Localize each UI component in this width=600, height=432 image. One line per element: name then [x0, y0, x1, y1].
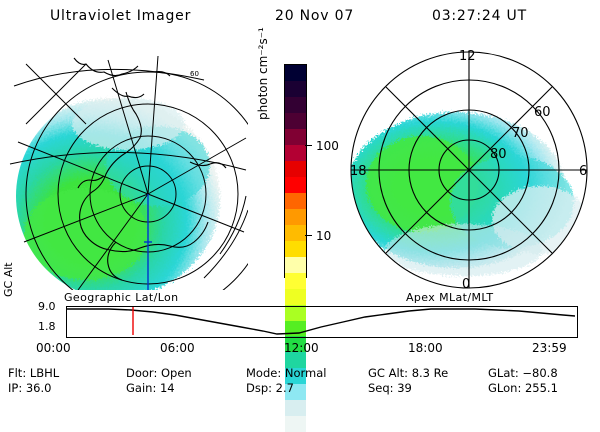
status-seq: Seq: 39: [368, 381, 412, 395]
orbit-xtick-2: 12:00: [284, 341, 319, 355]
colorbar-segment-2: [285, 97, 306, 113]
colorbar-segment-10: [285, 225, 306, 241]
auroral-emission-geographic: [8, 98, 220, 290]
orbit-ytick-low: 1.8: [38, 320, 56, 333]
mlt-label-0: 0: [462, 277, 470, 292]
orbit-trace-canvas: [67, 307, 575, 335]
colorbar-segment-13: [285, 273, 306, 289]
colorbar-segment-5: [285, 145, 306, 161]
mlt-label-12: 12: [459, 49, 476, 64]
status-gc-alt: GC Alt: 8.3 Re: [368, 366, 448, 380]
orbit-xtick-0: 00:00: [36, 341, 71, 355]
geographic-grid-label: 60: [190, 70, 199, 78]
mlat-label-70: 70: [512, 126, 529, 141]
colorbar-segment-12: [285, 257, 306, 273]
colorbar-segment-8: [285, 193, 306, 209]
orbit-altitude-plot: [66, 306, 578, 338]
geographic-plot: 60: [8, 46, 248, 290]
status-gain: Gain: 14: [126, 381, 175, 395]
mlt-spokes: [351, 52, 587, 288]
status-door: Door: Open: [126, 366, 192, 380]
status-mode: Mode: Normal: [246, 366, 326, 380]
colorbar-segment-22: [285, 416, 306, 432]
colorbar-segment-14: [285, 289, 306, 305]
colorbar: [284, 64, 307, 278]
colorbar-segment-0: [285, 65, 306, 81]
orbit-y-axis-label: GC Alt: [2, 283, 15, 297]
orbit-ytick-high: 9.0: [38, 300, 56, 313]
status-filter: Flt: LBHL: [8, 366, 59, 380]
status-ip: IP: 36.0: [8, 381, 51, 395]
colorbar-label-10: 10: [316, 229, 331, 243]
header-bar: Ultraviolet Imager 20 Nov 07 03:27:24 UT: [0, 8, 600, 30]
altitude-trace: [67, 309, 575, 334]
orbit-xtick-4: 23:59: [532, 341, 567, 355]
orbit-xtick-1: 06:00: [160, 341, 195, 355]
colorbar-axis-label: photon cm⁻²s⁻¹: [256, 102, 270, 120]
colorbar-tick-100: [305, 145, 312, 146]
observation-time: 03:27:24 UT: [432, 8, 527, 24]
colorbar-segment-1: [285, 81, 306, 97]
colorbar-segment-21: [285, 400, 306, 416]
colorbar-segment-6: [285, 161, 306, 177]
instrument-title: Ultraviolet Imager: [50, 8, 191, 24]
colorbar-tick-10: [305, 235, 312, 236]
colorbar-segment-11: [285, 241, 306, 257]
apex-canvas: 12 18 6 0 60 70 80: [344, 44, 594, 292]
apex-plot: 12 18 6 0 60 70 80: [344, 44, 594, 292]
observation-date: 20 Nov 07: [275, 8, 354, 24]
mlt-label-18: 18: [350, 164, 367, 179]
mlat-label-60: 60: [534, 105, 551, 120]
colorbar-segment-7: [285, 177, 306, 193]
orbit-xtick-3: 18:00: [408, 341, 443, 355]
status-dsp: Dsp: 2.7: [246, 381, 294, 395]
status-glat: GLat: −80.8: [488, 366, 558, 380]
colorbar-segment-3: [285, 113, 306, 129]
apex-caption: Apex MLat/MLT: [406, 291, 494, 304]
geographic-canvas: 60: [8, 46, 248, 290]
colorbar-segment-4: [285, 129, 306, 145]
uvi-display: Ultraviolet Imager 20 Nov 07 03:27:24 UT: [0, 0, 600, 400]
mlat-label-80: 80: [490, 147, 507, 162]
colorbar-segment-9: [285, 209, 306, 225]
geographic-caption: Geographic Lat/Lon: [64, 291, 179, 304]
colorbar-label-100: 100: [316, 139, 339, 153]
status-glon: GLon: 255.1: [488, 381, 558, 395]
mlt-label-6: 6: [579, 164, 587, 179]
